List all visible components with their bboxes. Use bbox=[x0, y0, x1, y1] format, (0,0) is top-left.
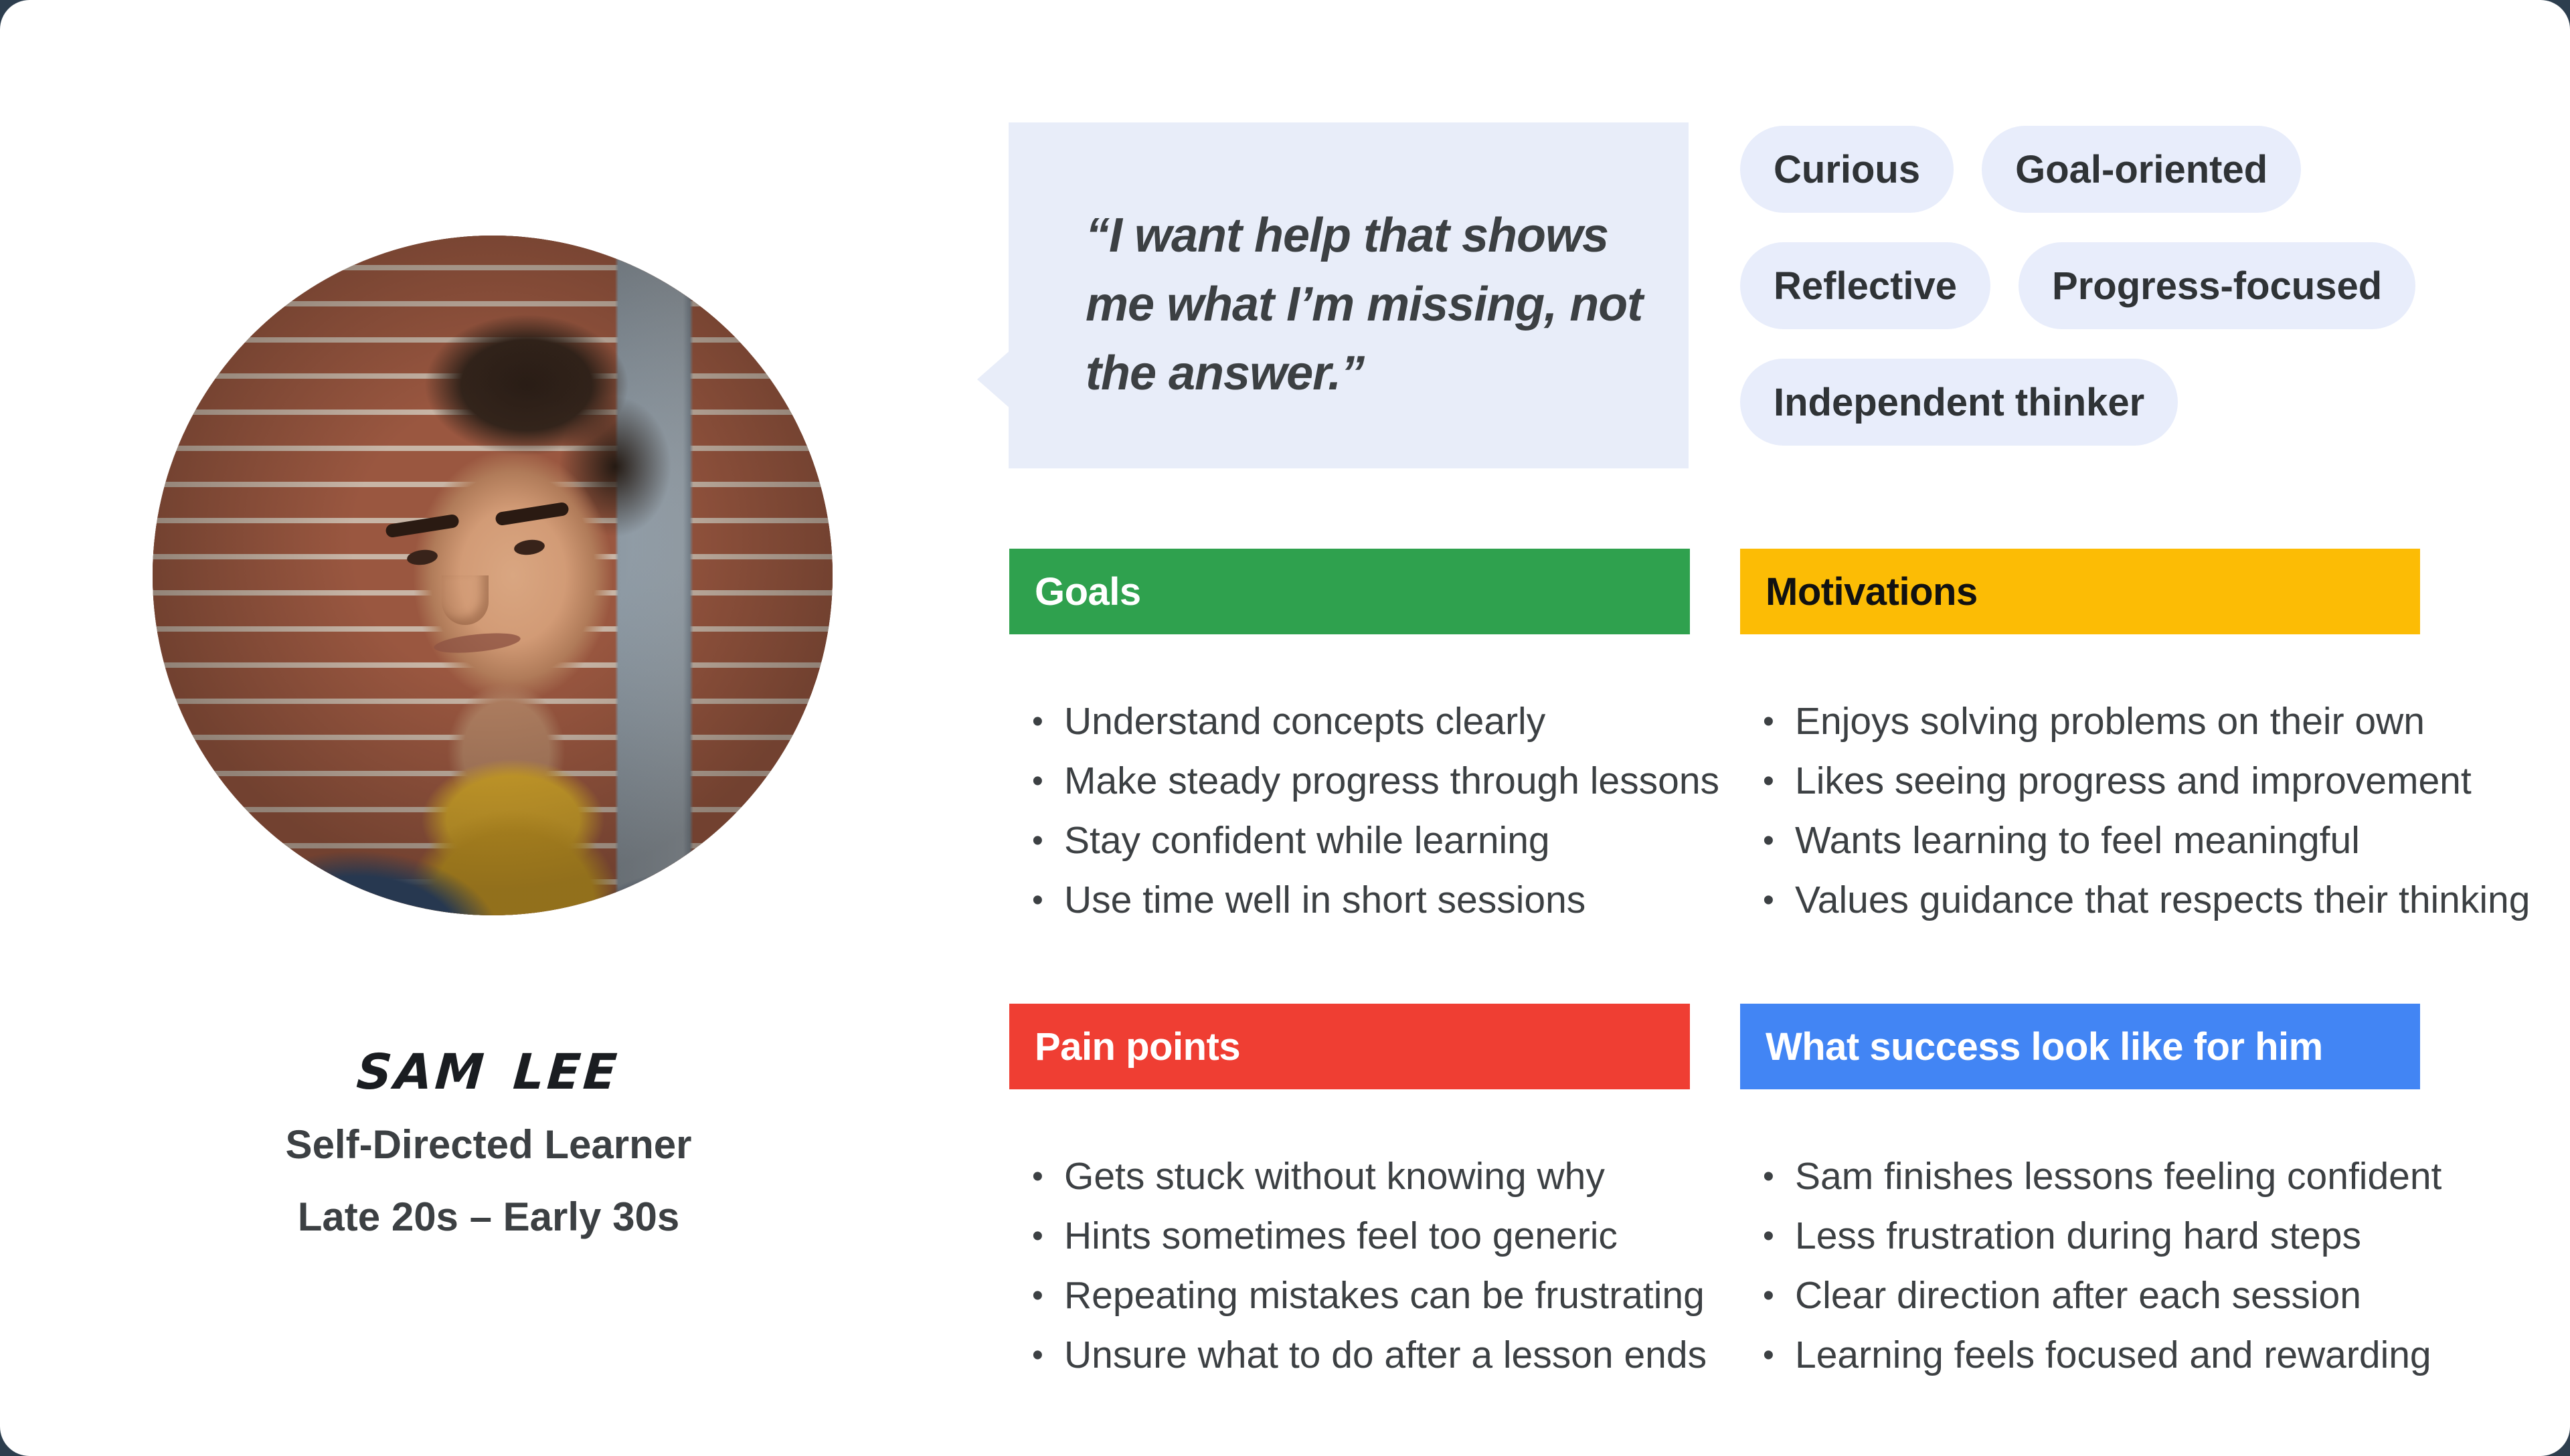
trait-pill-independent-thinker[interactable]: Independent thinker bbox=[1740, 359, 2178, 446]
list-item: Likes seeing progress and improvement bbox=[1740, 751, 2420, 811]
section-goals: Goals Understand concepts clearly Make s… bbox=[1009, 549, 1690, 930]
trait-pill-goal-oriented[interactable]: Goal-oriented bbox=[1982, 126, 2301, 213]
list-item: Sam finishes lessons feeling confident bbox=[1740, 1147, 2420, 1206]
list-item: Clear direction after each session bbox=[1740, 1266, 2420, 1326]
persona-age-range: Late 20s – Early 30s bbox=[0, 1194, 977, 1240]
section-motivations: Motivations Enjoys solving problems on t… bbox=[1740, 549, 2420, 930]
trait-pill-reflective[interactable]: Reflective bbox=[1740, 242, 1990, 329]
section-goals-header: Goals bbox=[1009, 549, 1690, 634]
section-motivations-header: Motivations bbox=[1740, 549, 2420, 634]
list-item: Unsure what to do after a lesson ends bbox=[1009, 1326, 1690, 1385]
list-item: Wants learning to feel meaningful bbox=[1740, 811, 2420, 871]
photo-vignette bbox=[153, 236, 833, 915]
list-item: Repeating mistakes can be frustrating bbox=[1009, 1266, 1690, 1326]
list-item: Make steady progress through lessons bbox=[1009, 751, 1690, 811]
persona-name: Sam Lee bbox=[0, 1024, 980, 1105]
section-success: What success look like for him Sam finis… bbox=[1740, 1004, 2420, 1385]
section-pain-points-header: Pain points bbox=[1009, 1004, 1690, 1089]
nose bbox=[442, 575, 489, 625]
trait-pill-curious[interactable]: Curious bbox=[1740, 126, 1954, 213]
list-item: Enjoys solving problems on their own bbox=[1740, 692, 2420, 751]
list-item: Use time well in short sessions bbox=[1009, 871, 1690, 930]
trait-row-1: Curious Goal-oriented bbox=[1740, 126, 2456, 213]
list-item: Less frustration during hard steps bbox=[1740, 1206, 2420, 1266]
list-item: Stay confident while learning bbox=[1009, 811, 1690, 871]
section-success-list: Sam finishes lessons feeling confident L… bbox=[1740, 1147, 2420, 1385]
section-motivations-list: Enjoys solving problems on their own Lik… bbox=[1740, 692, 2420, 930]
list-item: Understand concepts clearly bbox=[1009, 692, 1690, 751]
persona-identity-column: Sam Lee Self-Directed Learner Late 20s –… bbox=[0, 0, 977, 1456]
section-success-header: What success look like for him bbox=[1740, 1004, 2420, 1089]
list-item: Learning feels focused and rewarding bbox=[1740, 1326, 2420, 1385]
section-pain-points: Pain points Gets stuck without knowing w… bbox=[1009, 1004, 1690, 1385]
quote-bubble: “I want help that shows me what I’m miss… bbox=[1009, 122, 1689, 468]
section-pain-points-list: Gets stuck without knowing why Hints som… bbox=[1009, 1147, 1690, 1385]
persona-role: Self-Directed Learner bbox=[0, 1121, 977, 1168]
section-goals-list: Understand concepts clearly Make steady … bbox=[1009, 692, 1690, 930]
list-item: Gets stuck without knowing why bbox=[1009, 1147, 1690, 1206]
quote-bubble-tail bbox=[977, 350, 1011, 409]
list-item: Hints sometimes feel too generic bbox=[1009, 1206, 1690, 1266]
trait-pill-group: Curious Goal-oriented Reflective Progres… bbox=[1740, 126, 2456, 475]
quote-text: “I want help that shows me what I’m miss… bbox=[1086, 201, 1661, 408]
trait-pill-progress-focused[interactable]: Progress-focused bbox=[2019, 242, 2415, 329]
trait-row-3: Independent thinker bbox=[1740, 359, 2456, 446]
persona-card: Sam Lee Self-Directed Learner Late 20s –… bbox=[0, 0, 2570, 1456]
list-item: Values guidance that respects their thin… bbox=[1740, 871, 2420, 930]
trait-row-2: Reflective Progress-focused bbox=[1740, 242, 2456, 329]
avatar bbox=[153, 236, 833, 915]
